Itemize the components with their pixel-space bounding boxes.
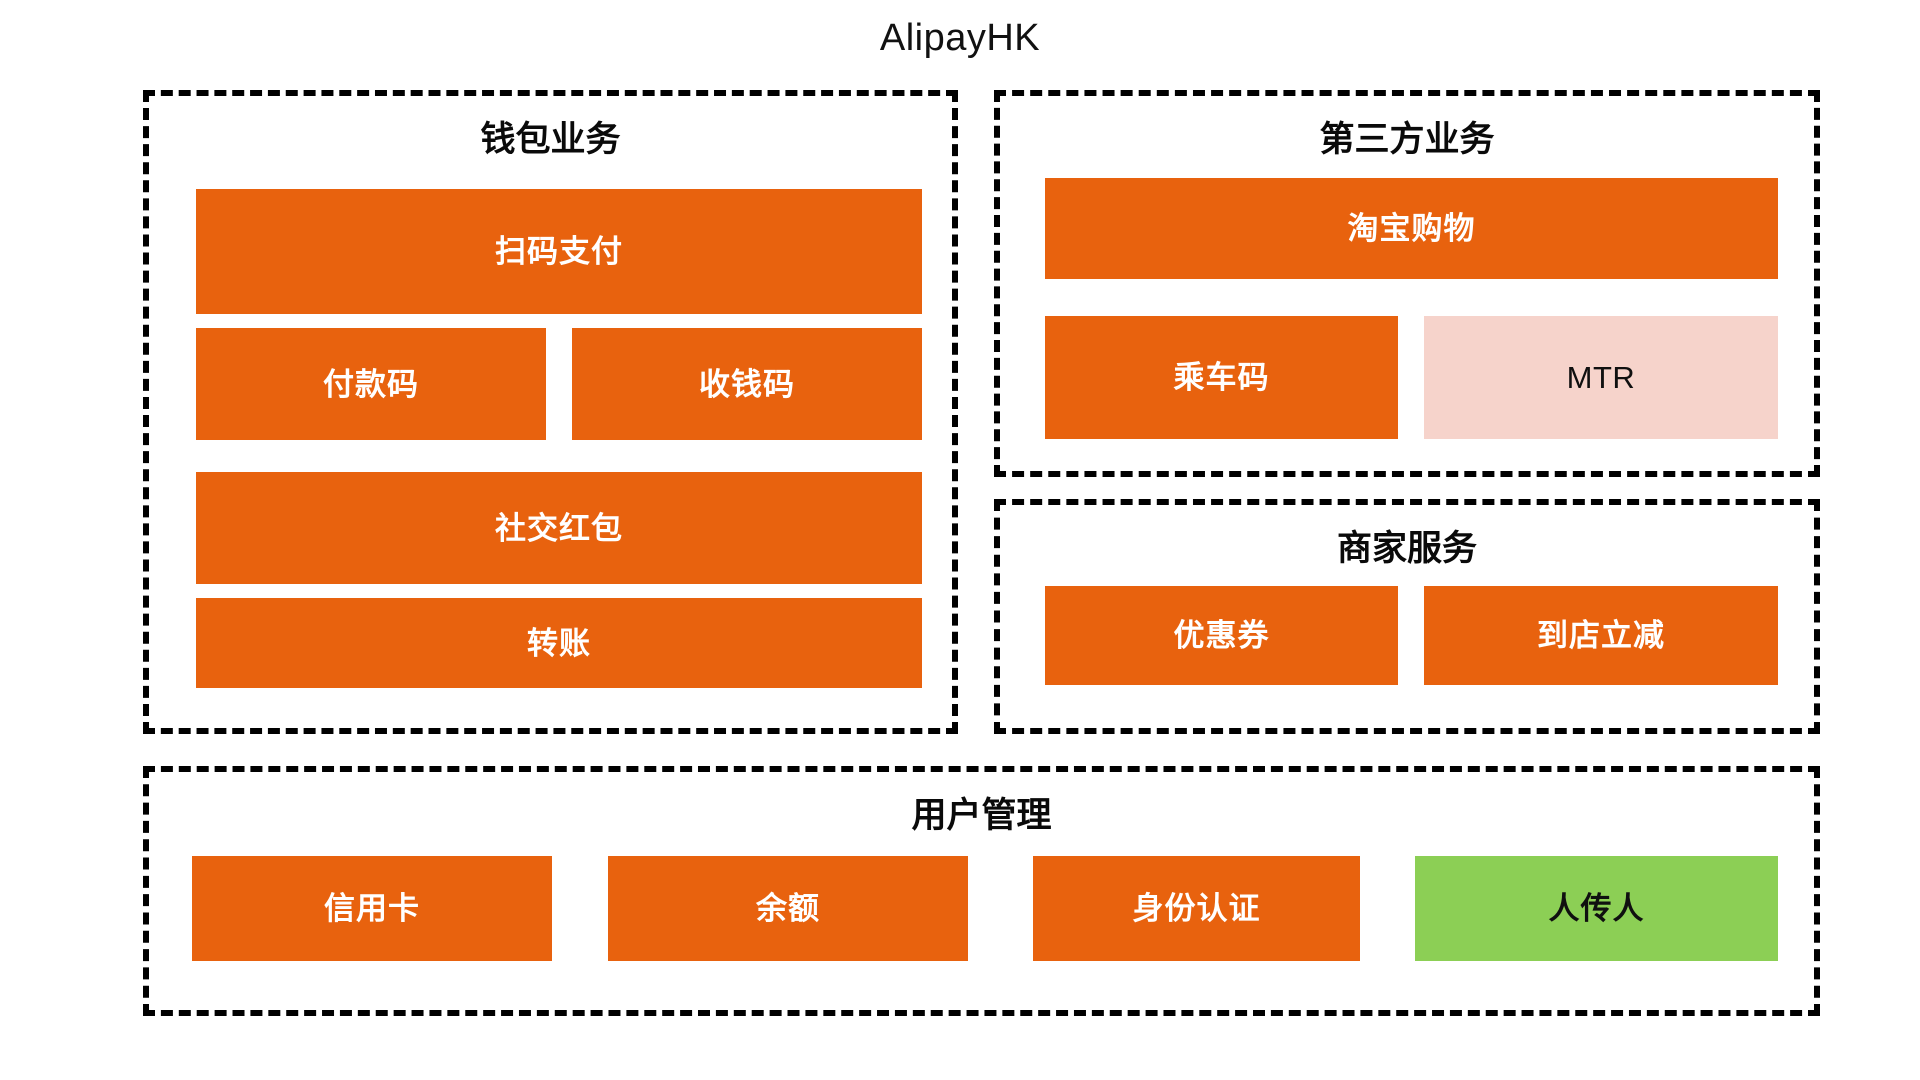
box-collect-money-code-label: 收钱码 (699, 369, 795, 400)
diagram-canvas: AlipayHK 钱包业务 扫码支付 付款码 收钱码 社交红包 转账 第三方业务… (0, 0, 1920, 1080)
box-social-red-packet-label: 社交红包 (495, 513, 623, 544)
box-mtr[interactable]: MTR (1424, 316, 1778, 439)
box-transit-code-label: 乘车码 (1174, 362, 1270, 393)
box-person-to-person-label: 人传人 (1549, 893, 1645, 924)
box-coupon[interactable]: 优惠券 (1045, 586, 1398, 685)
box-scan-to-pay-label: 扫码支付 (495, 236, 623, 267)
box-social-red-packet[interactable]: 社交红包 (196, 472, 922, 584)
box-in-store-discount-label: 到店立减 (1537, 620, 1665, 651)
box-person-to-person[interactable]: 人传人 (1415, 856, 1778, 961)
box-credit-card-label: 信用卡 (324, 893, 420, 924)
panel-third-party-business-title: 第三方业务 (1000, 118, 1814, 162)
box-mtr-label: MTR (1567, 362, 1636, 393)
box-identity-verification-label: 身份认证 (1133, 893, 1261, 924)
box-credit-card[interactable]: 信用卡 (192, 856, 552, 961)
box-payment-code-label: 付款码 (323, 369, 419, 400)
box-transfer[interactable]: 转账 (196, 598, 922, 688)
box-transit-code[interactable]: 乘车码 (1045, 316, 1398, 439)
box-taobao-shopping-label: 淘宝购物 (1348, 213, 1476, 244)
panel-merchant-services-title: 商家服务 (1000, 527, 1814, 571)
panel-wallet-business-title: 钱包业务 (149, 118, 952, 162)
box-identity-verification[interactable]: 身份认证 (1033, 856, 1360, 961)
box-coupon-label: 优惠券 (1174, 620, 1270, 651)
page-title: AlipayHK (0, 14, 1920, 62)
box-balance[interactable]: 余额 (608, 856, 968, 961)
box-taobao-shopping[interactable]: 淘宝购物 (1045, 178, 1778, 279)
box-transfer-label: 转账 (527, 628, 591, 659)
panel-user-management-title: 用户管理 (149, 794, 1814, 838)
box-balance-label: 余额 (756, 893, 820, 924)
box-payment-code[interactable]: 付款码 (196, 328, 546, 440)
box-collect-money-code[interactable]: 收钱码 (572, 328, 922, 440)
box-scan-to-pay[interactable]: 扫码支付 (196, 189, 922, 314)
box-in-store-discount[interactable]: 到店立减 (1424, 586, 1778, 685)
